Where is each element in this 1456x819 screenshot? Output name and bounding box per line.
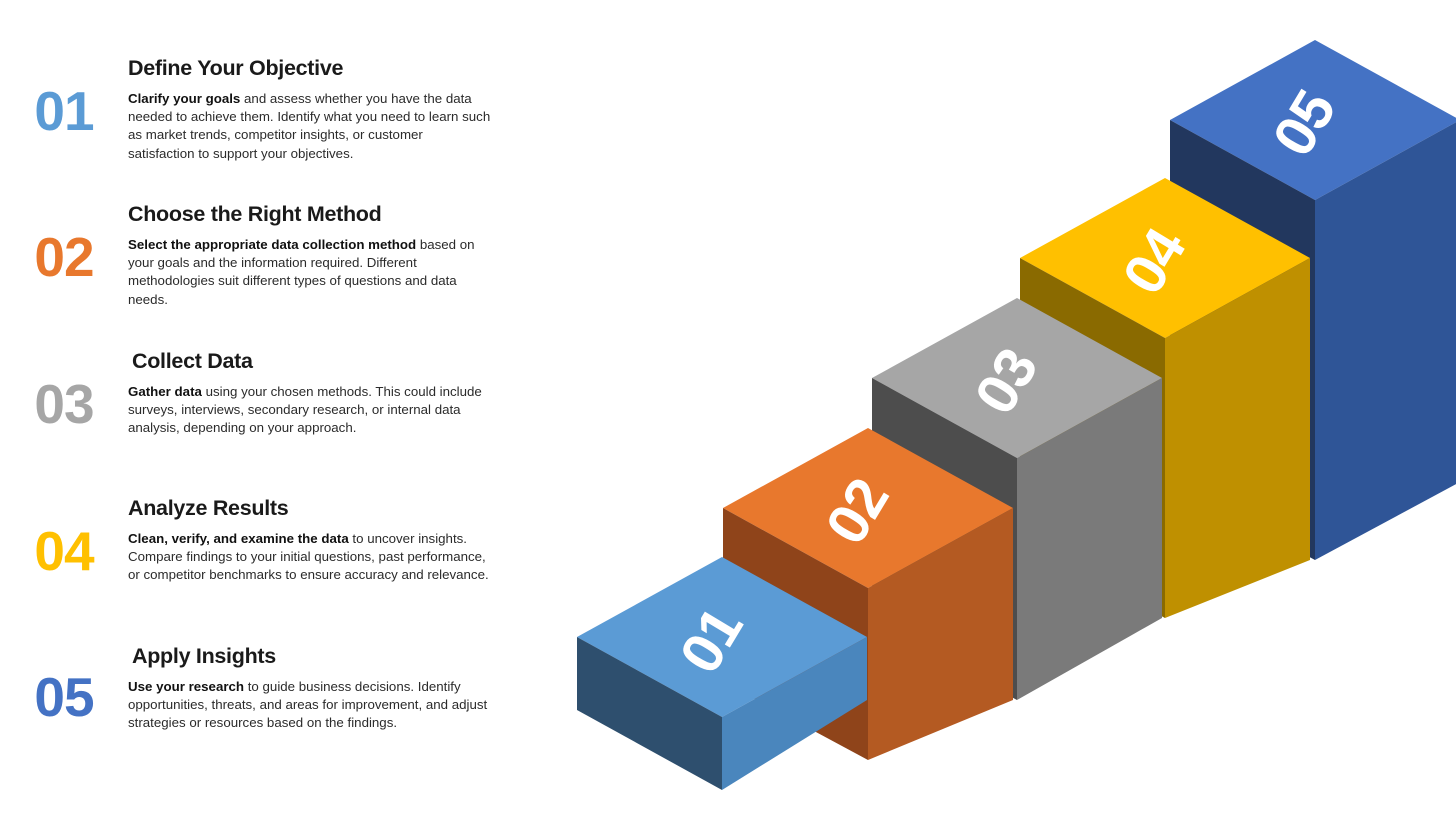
step-title-02: Choose the Right Method xyxy=(128,202,492,227)
step-number-02: 02 xyxy=(0,202,128,285)
step-description-03: Gather data using your chosen methods. T… xyxy=(128,383,492,438)
step-description-01: Clarify your goals and assess whether yo… xyxy=(128,90,492,163)
step-item-03: 03 Collect Data Gather data using your c… xyxy=(0,349,510,438)
step-item-01: 01 Define Your Objective Clarify your go… xyxy=(0,56,510,163)
step-number-03: 03 xyxy=(0,349,128,432)
step-lead-01: Clarify your goals xyxy=(128,91,240,106)
step-number-04: 04 xyxy=(0,496,128,579)
step-number-05: 05 xyxy=(0,644,128,725)
step-description-04: Clean, verify, and examine the data to u… xyxy=(128,530,492,585)
step-description-05: Use your research to guide business deci… xyxy=(128,678,492,733)
step-title-05: Apply Insights xyxy=(132,644,492,669)
step-title-01: Define Your Objective xyxy=(128,56,492,81)
step-content-01: Define Your Objective Clarify your goals… xyxy=(128,56,510,163)
steps-list: 01 Define Your Objective Clarify your go… xyxy=(0,0,520,819)
step-number-01: 01 xyxy=(0,56,128,139)
step-lead-02: Select the appropriate data collection m… xyxy=(128,237,416,252)
step-item-02: 02 Choose the Right Method Select the ap… xyxy=(0,202,510,309)
step-content-04: Analyze Results Clean, verify, and exami… xyxy=(128,496,510,585)
step-description-02: Select the appropriate data collection m… xyxy=(128,236,492,309)
step-content-02: Choose the Right Method Select the appro… xyxy=(128,202,510,309)
step-item-05: 05 Apply Insights Use your research to g… xyxy=(0,644,510,733)
step-lead-03: Gather data xyxy=(128,384,202,399)
step-title-03: Collect Data xyxy=(132,349,492,374)
step-content-03: Collect Data Gather data using your chos… xyxy=(128,349,510,438)
step-item-04: 04 Analyze Results Clean, verify, and ex… xyxy=(0,496,510,585)
step-content-05: Apply Insights Use your research to guid… xyxy=(128,644,510,733)
step-lead-04: Clean, verify, and examine the data xyxy=(128,531,349,546)
isometric-staircase-graphic: 05 04 03 02 01 xyxy=(520,0,1456,819)
step-lead-05: Use your research xyxy=(128,679,244,694)
step-title-04: Analyze Results xyxy=(128,496,492,521)
